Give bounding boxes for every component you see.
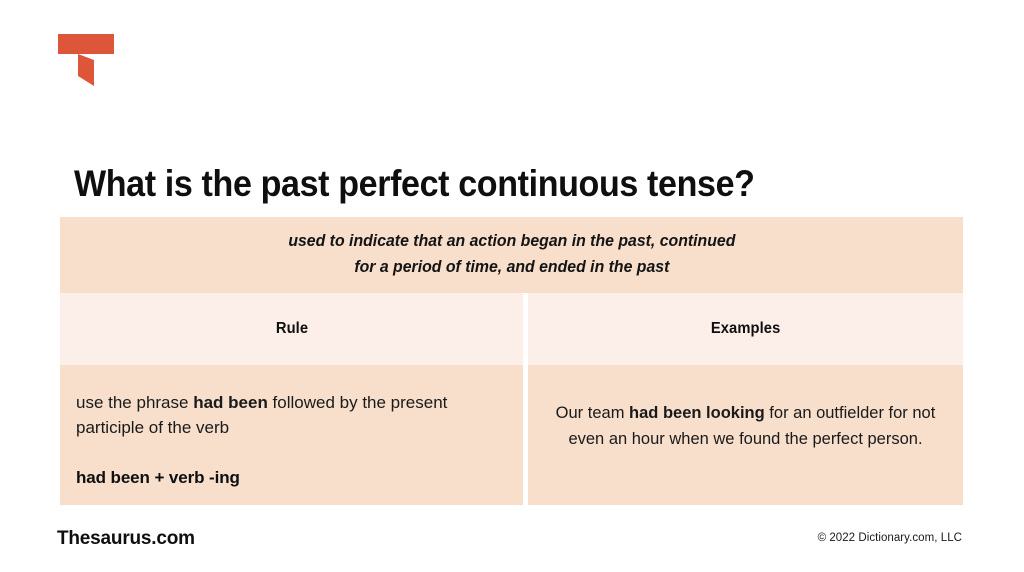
rule-text-bold: had been xyxy=(193,393,268,412)
example-sentence: Our team had been looking for an outfiel… xyxy=(554,401,937,452)
definition-table: used to indicate that an action began in… xyxy=(60,217,963,505)
column-header-rule: Rule xyxy=(60,293,523,365)
rule-description: use the phrase had been followed by the … xyxy=(76,391,493,440)
footer-brand-name: Thesaurus.com xyxy=(57,528,195,550)
rule-cell: use the phrase had been followed by the … xyxy=(60,365,523,505)
table-body-row: use the phrase had been followed by the … xyxy=(60,365,963,505)
definition-banner: used to indicate that an action began in… xyxy=(60,217,963,293)
column-header-rule-label: Rule xyxy=(275,320,307,338)
definition-banner-text: used to indicate that an action began in… xyxy=(288,229,735,280)
definition-line-1: used to indicate that an action began in… xyxy=(288,232,735,250)
column-header-examples: Examples xyxy=(528,293,963,365)
rule-text-before: use the phrase xyxy=(76,393,193,412)
table-header-row: Rule Examples xyxy=(60,293,963,365)
footer-copyright: © 2022 Dictionary.com, LLC xyxy=(818,532,962,544)
example-cell: Our team had been looking for an outfiel… xyxy=(528,365,963,505)
thesaurus-t-logo-icon xyxy=(58,34,114,86)
page-title: What is the past perfect continuous tens… xyxy=(74,163,755,205)
example-text-bold: had been looking xyxy=(629,404,765,422)
column-header-examples-label: Examples xyxy=(711,320,781,338)
thesaurus-logo xyxy=(58,34,114,86)
definition-line-2: for a period of time, and ended in the p… xyxy=(354,258,669,276)
example-text-before: Our team xyxy=(556,404,629,422)
rule-formula: had been + verb -ing xyxy=(76,468,493,488)
